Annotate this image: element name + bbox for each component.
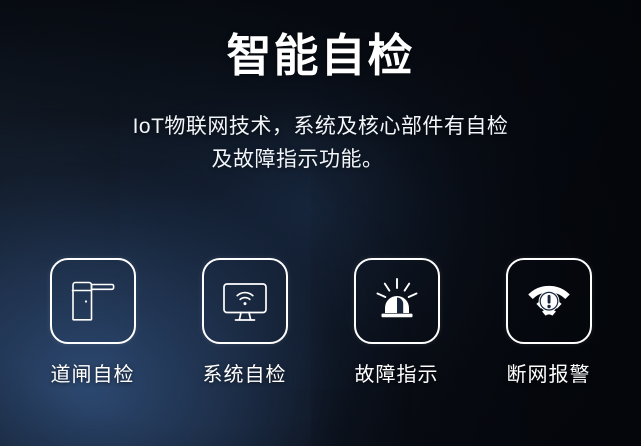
feature-label: 系统自检 <box>203 358 287 387</box>
monitor-wifi-icon-box <box>202 258 288 344</box>
subtitle-line-1: IoT物联网技术，系统及核心部件有自检 <box>0 110 641 143</box>
feature-card-list: 道闸自检 <box>0 258 641 387</box>
barrier-gate-icon <box>63 271 123 331</box>
wifi-alert-icon <box>520 272 578 330</box>
feature-label: 道闸自检 <box>51 358 135 387</box>
feature-label: 断网报警 <box>507 358 591 387</box>
feature-label: 故障指示 <box>355 358 439 387</box>
page-subtitle: IoT物联网技术，系统及核心部件有自检 及故障指示功能。 <box>0 110 641 176</box>
page-title: 智能自检 <box>0 30 641 82</box>
barrier-gate-icon-box <box>50 258 136 344</box>
promo-slide: 智能自检 IoT物联网技术，系统及核心部件有自检 及故障指示功能。 <box>0 0 641 446</box>
subtitle-line-2: 及故障指示功能。 <box>0 143 641 176</box>
alarm-beacon-icon-box <box>354 258 440 344</box>
alarm-beacon-icon <box>368 272 426 330</box>
feature-card-fault-indicator[interactable]: 故障指示 <box>349 258 445 387</box>
feature-card-network-alarm[interactable]: 断网报警 <box>501 258 597 387</box>
feature-card-barrier-gate[interactable]: 道闸自检 <box>45 258 141 387</box>
wifi-alert-icon-box <box>506 258 592 344</box>
monitor-wifi-icon <box>216 272 274 330</box>
slide-content: 智能自检 IoT物联网技术，系统及核心部件有自检 及故障指示功能。 <box>0 0 641 446</box>
feature-card-system-check[interactable]: 系统自检 <box>197 258 293 387</box>
